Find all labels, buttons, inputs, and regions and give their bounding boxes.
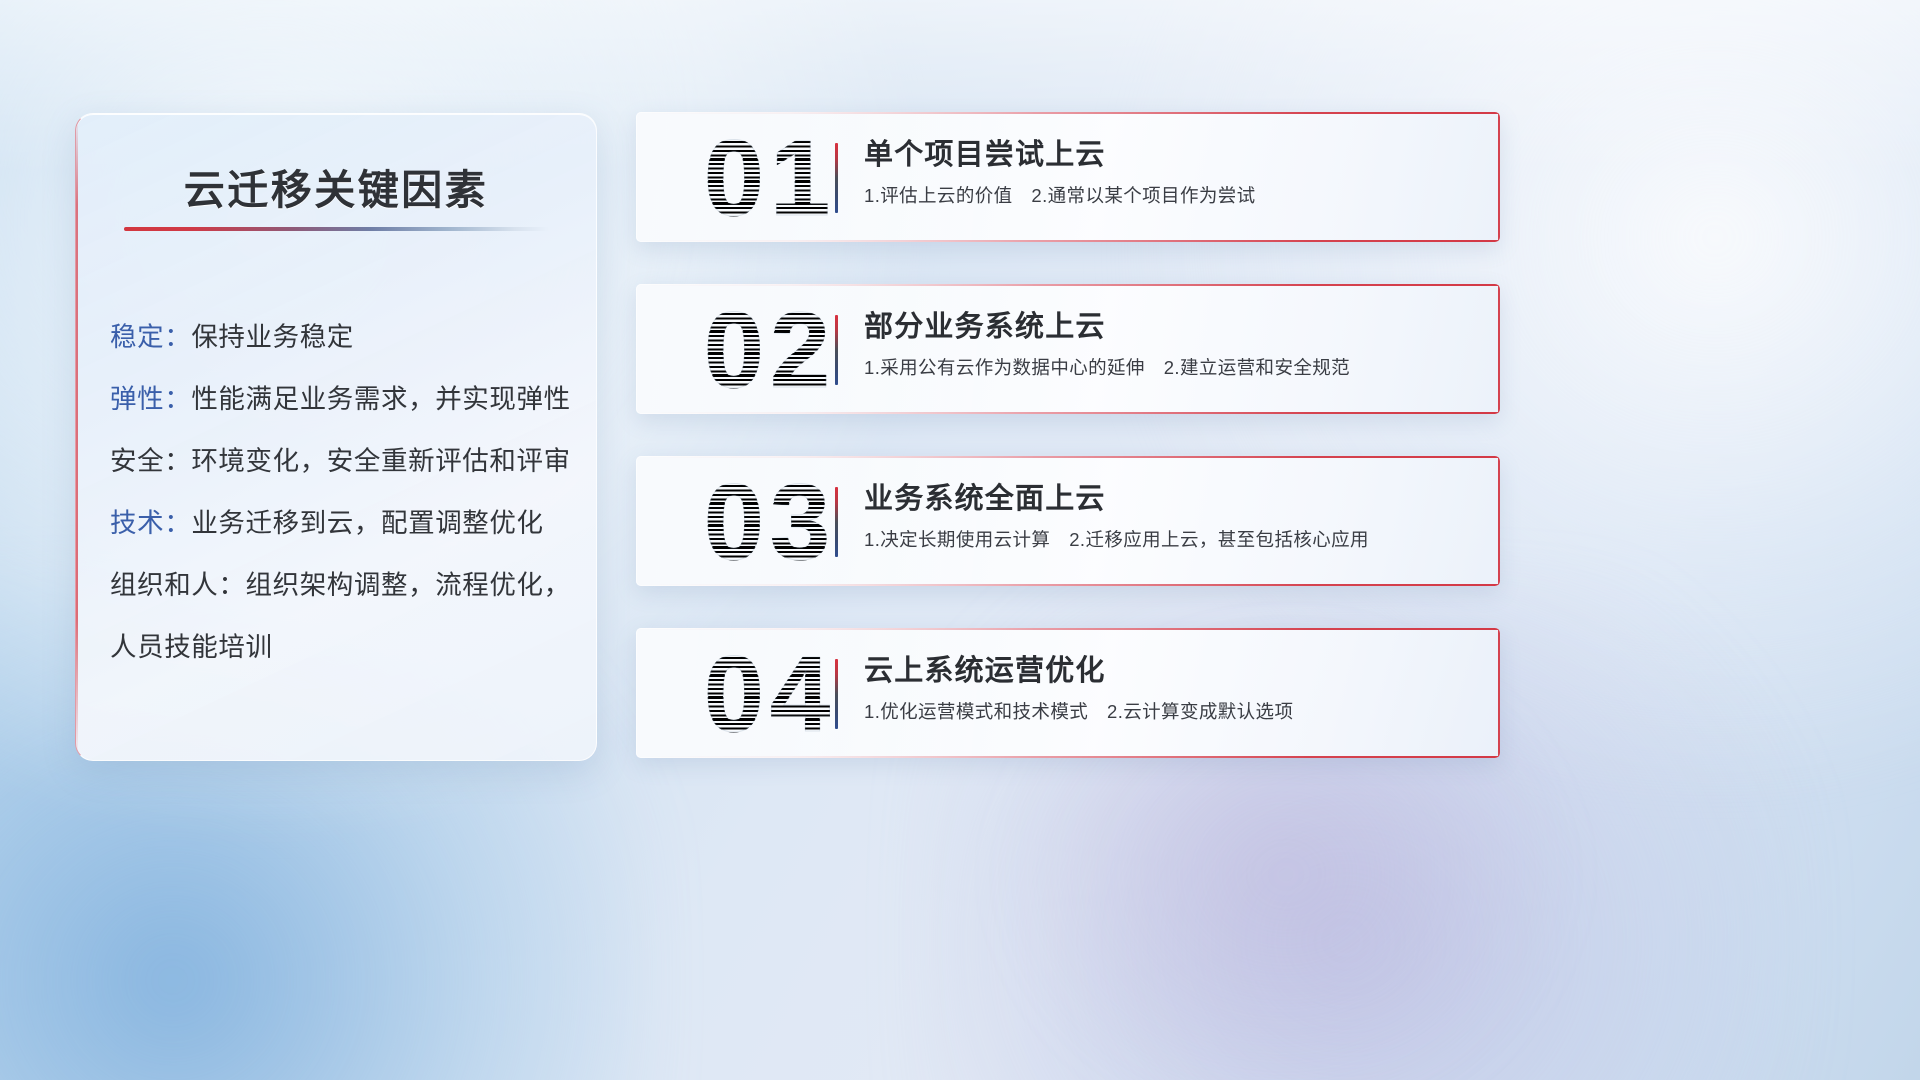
card-right-edge	[1498, 284, 1500, 414]
card-title: 部分业务系统上云	[864, 306, 1474, 348]
card-number-watermark-tint: 03	[650, 456, 890, 586]
card-number-watermark-tint: 01	[650, 112, 890, 242]
key-factor-label: 稳定：	[110, 322, 191, 352]
cloud-migration-stage-cards: 01 01 单个项目尝试上云 1.评估上云的价值 2.通常以某个项目作为尝试 0…	[636, 112, 1500, 758]
card-title: 单个项目尝试上云	[864, 134, 1474, 176]
card-subtitle: 1.采用公有云作为数据中心的延伸 2.建立运营和安全规范	[864, 354, 1474, 382]
key-factor-item-stability: 稳定：保持业务稳定	[110, 306, 572, 368]
card-accent-divider	[835, 659, 838, 729]
key-factor-text: 保持业务稳定	[191, 322, 354, 352]
card-number-watermark-tint: 04	[650, 628, 890, 758]
stage-card-01[interactable]: 01 01 单个项目尝试上云 1.评估上云的价值 2.通常以某个项目作为尝试	[636, 112, 1500, 242]
card-subtitle: 1.评估上云的价值 2.通常以某个项目作为尝试	[864, 182, 1474, 210]
key-factor-text: 性能满足业务需求，并实现弹性	[191, 384, 570, 414]
key-factor-text: 人员技能培训	[110, 632, 273, 662]
stage-card-03[interactable]: 03 03 业务系统全面上云 1.决定长期使用云计算 2.迁移应用上云，甚至包括…	[636, 456, 1500, 586]
card-body: 业务系统全面上云 1.决定长期使用云计算 2.迁移应用上云，甚至包括核心应用	[864, 478, 1474, 554]
card-right-edge	[1498, 456, 1500, 586]
key-factor-text: 业务迁移到云，配置调整优化	[191, 508, 543, 538]
key-factor-label: 弹性：	[110, 384, 191, 414]
card-body: 部分业务系统上云 1.采用公有云作为数据中心的延伸 2.建立运营和安全规范	[864, 306, 1474, 382]
key-factors-panel: 云迁移关键因素 稳定：保持业务稳定 弹性：性能满足业务需求，并实现弹性 安全：环…	[75, 113, 597, 761]
card-accent-divider	[835, 315, 838, 385]
slide-stage: 云迁移关键因素 稳定：保持业务稳定 弹性：性能满足业务需求，并实现弹性 安全：环…	[0, 0, 1920, 1080]
key-factors-list: 稳定：保持业务稳定 弹性：性能满足业务需求，并实现弹性 安全：环境变化，安全重新…	[110, 306, 572, 678]
key-factor-text: 环境变化，安全重新评估和评审	[191, 446, 570, 476]
key-factor-item-security: 安全：环境变化，安全重新评估和评审	[110, 430, 572, 492]
key-factor-item-technology: 技术：业务迁移到云，配置调整优化	[110, 492, 572, 554]
stage-card-04[interactable]: 04 04 云上系统运营优化 1.优化运营模式和技术模式 2.云计算变成默认选项	[636, 628, 1500, 758]
key-factor-text: 组织架构调整，流程优化，	[246, 570, 571, 600]
card-accent-divider	[835, 143, 838, 213]
card-number-watermark-tint: 02	[650, 284, 890, 414]
card-title: 云上系统运营优化	[864, 650, 1474, 692]
key-factor-item-elasticity: 弹性：性能满足业务需求，并实现弹性	[110, 368, 572, 430]
card-accent-divider	[835, 487, 838, 557]
card-subtitle: 1.决定长期使用云计算 2.迁移应用上云，甚至包括核心应用	[864, 526, 1474, 554]
key-factor-label: 组织和人：	[110, 570, 246, 600]
key-factor-label: 技术：	[110, 508, 191, 538]
card-body: 单个项目尝试上云 1.评估上云的价值 2.通常以某个项目作为尝试	[864, 134, 1474, 210]
key-factor-label: 安全：	[110, 446, 191, 476]
panel-title-underline	[124, 227, 549, 231]
key-factor-item-organization: 组织和人：组织架构调整，流程优化，	[110, 554, 572, 616]
card-subtitle: 1.优化运营模式和技术模式 2.云计算变成默认选项	[864, 698, 1474, 726]
card-title: 业务系统全面上云	[864, 478, 1474, 520]
card-right-edge	[1498, 628, 1500, 758]
card-right-edge	[1498, 112, 1500, 242]
stage-card-02[interactable]: 02 02 部分业务系统上云 1.采用公有云作为数据中心的延伸 2.建立运营和安…	[636, 284, 1500, 414]
card-body: 云上系统运营优化 1.优化运营模式和技术模式 2.云计算变成默认选项	[864, 650, 1474, 726]
panel-title: 云迁移关键因素	[76, 156, 596, 216]
key-factor-item-organization-continued: 人员技能培训	[110, 616, 572, 678]
